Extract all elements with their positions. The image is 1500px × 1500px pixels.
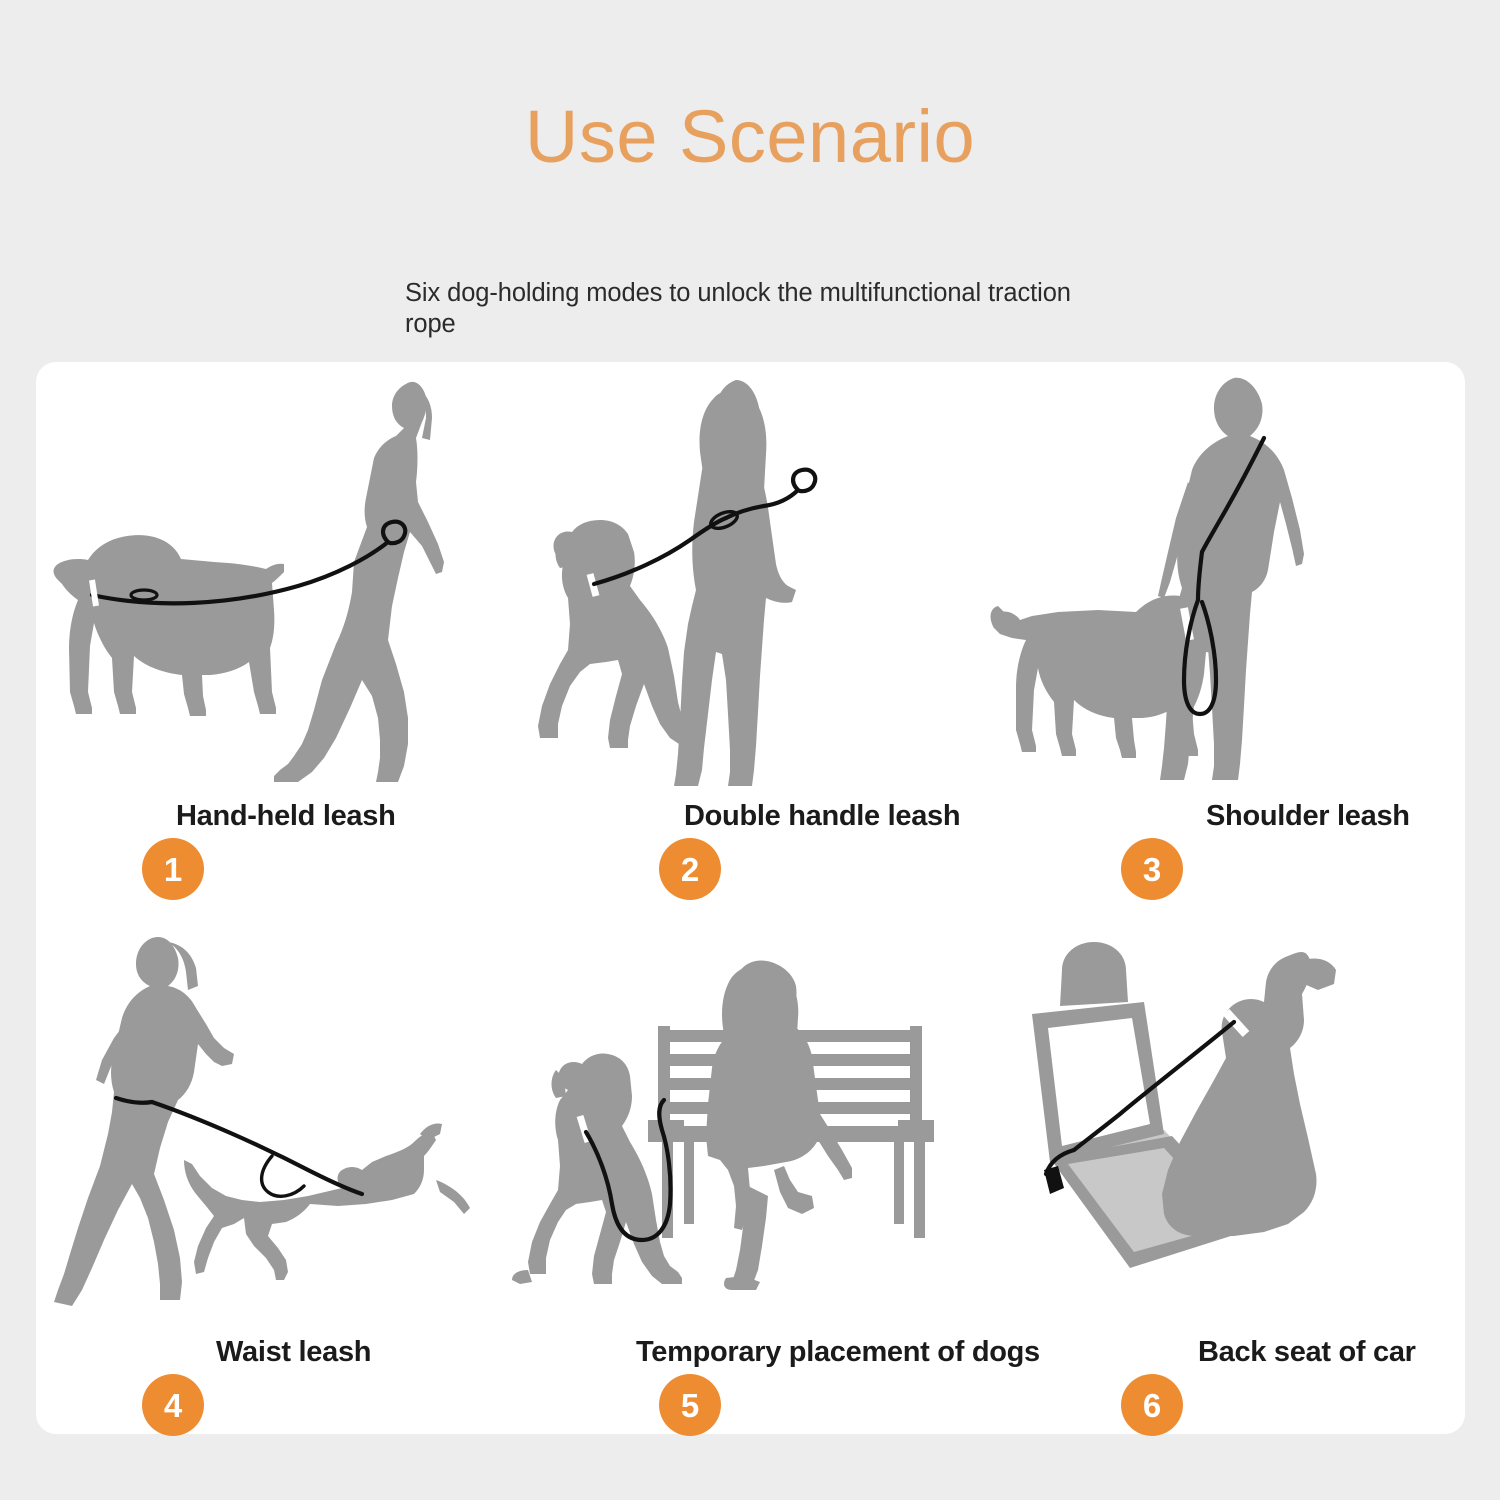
- scenario-panel-3[interactable]: 3 Shoulder leash: [988, 362, 1464, 898]
- scenario-panel-1[interactable]: 1 Hand-held leash: [36, 362, 512, 898]
- page-subtitle: Six dog-holding modes to unlock the mult…: [405, 278, 1095, 340]
- panel-number-badge: 6: [1121, 1374, 1183, 1436]
- scenario-panel-4[interactable]: 4 Waist leash: [36, 898, 512, 1434]
- park-bench-tether-icon: [512, 898, 988, 1338]
- dog-silhouette: [184, 1132, 436, 1280]
- bench-leg-left-back: [684, 1142, 694, 1224]
- panel-number-badge: 1: [142, 838, 204, 900]
- car-seat-dog-icon: [988, 898, 1464, 1338]
- bench-arm-left: [648, 1120, 684, 1130]
- dog-silhouette: [54, 535, 285, 716]
- woman-standing-sitting-dog-icon: [512, 362, 988, 802]
- man-shoulder-strap-dog-icon: [988, 362, 1464, 802]
- panel-number-badge: 2: [659, 838, 721, 900]
- bench-leg-right-front: [914, 1142, 925, 1238]
- scenario-panel-5[interactable]: 5 Temporary placement of dogs: [512, 898, 988, 1434]
- scenario-panel-2[interactable]: 2 Double handle leash: [512, 362, 988, 898]
- leash-line: [152, 1102, 362, 1194]
- woman-hair: [722, 965, 798, 1092]
- panel-number-badge: 4: [142, 1374, 204, 1436]
- dog-tail: [436, 1180, 470, 1214]
- car-headrest: [1060, 942, 1128, 1006]
- panel-number-badge: 5: [659, 1374, 721, 1436]
- woman-walking-dog-icon: [36, 362, 512, 802]
- bench-leg-right-back: [894, 1142, 904, 1224]
- scenario-panel-6[interactable]: 6 Back seat of car: [988, 898, 1464, 1434]
- page-title: Use Scenario: [0, 95, 1500, 179]
- bench-arm-right: [898, 1120, 934, 1130]
- panel-label: Shoulder leash: [988, 800, 1500, 833]
- dog-muzzle: [1304, 958, 1336, 990]
- infographic-page: Use Scenario Six dog-holding modes to un…: [0, 0, 1500, 1500]
- collar-highlight: [92, 580, 96, 606]
- dog-silhouette: [1162, 952, 1317, 1236]
- dog-tail: [512, 1270, 532, 1284]
- panel-number-badge: 3: [1121, 838, 1183, 900]
- panel-label: Back seat of car: [988, 1336, 1500, 1369]
- woman-silhouette: [274, 382, 444, 782]
- scenarios-grid: 1 Hand-held leash: [36, 362, 1465, 1434]
- scenarios-card: 1 Hand-held leash: [36, 362, 1465, 1434]
- woman-leg-crossed: [774, 1166, 814, 1214]
- woman-running-dog-icon: [36, 898, 512, 1338]
- leash-slack-loop: [262, 1156, 304, 1196]
- hand-loop: [793, 470, 815, 492]
